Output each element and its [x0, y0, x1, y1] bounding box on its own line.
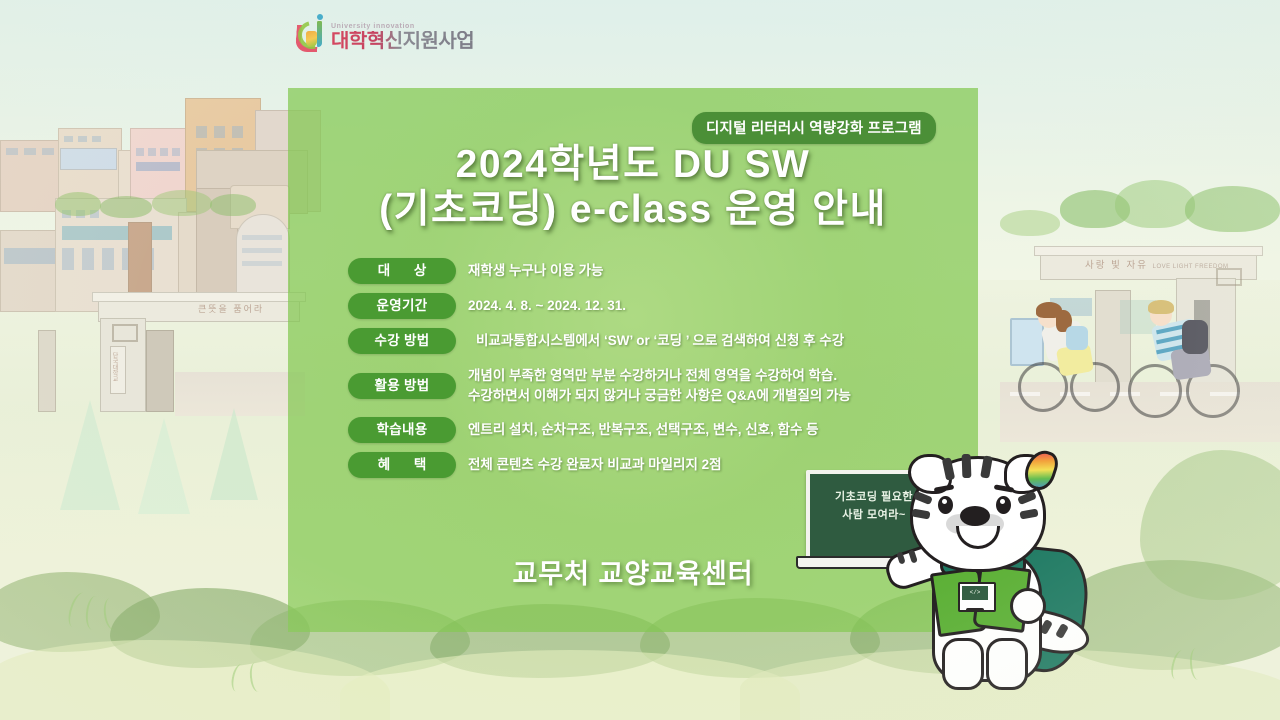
info-row-value: 엔트리 설치, 순차구조, 반복구조, 선택구조, 변수, 신호, 함수 등 [468, 417, 948, 440]
code-glyph: </> [964, 590, 986, 595]
info-row-value-line: 2024. 4. 8. ~ 2024. 12. 31. [468, 296, 948, 316]
info-row-value-line: 엔트리 설치, 순차구조, 반복구조, 선택구조, 변수, 신호, 함수 등 [468, 420, 948, 440]
info-row-label: 혜 택 [348, 452, 456, 478]
info-row-value: 2024. 4. 8. ~ 2024. 12. 31. [468, 293, 948, 316]
info-row-value-line: 비교과통합시스템에서 ‘SW’ or ‘코딩 ’ 으로 검색하여 신청 후 수강 [476, 331, 948, 351]
page-title: 2024학년도 DU SW (기초코딩) e-class 운영 안내 [288, 142, 978, 232]
info-rows: 대 상재학생 누구나 이용 가능운영기간2024. 4. 8. ~ 2024. … [348, 258, 948, 487]
info-row: 학습내용엔트리 설치, 순차구조, 반복구조, 선택구조, 변수, 신호, 함수… [348, 417, 948, 443]
tiger-leg-right [986, 638, 1028, 690]
info-row: 대 상재학생 누구나 이용 가능 [348, 258, 948, 284]
info-row: 활용 방법개념이 부족한 영역만 부분 수강하거나 전체 영역을 수강하여 학습… [348, 363, 948, 406]
gate-left-pillar-text: 단국대학교 [104, 352, 118, 382]
info-row-label: 활용 방법 [348, 373, 456, 399]
logo-korean-text: 대학혁신지원사업 [331, 31, 474, 51]
info-row-label: 운영기간 [348, 293, 456, 319]
info-row-value: 개념이 부족한 영역만 부분 수강하거나 전체 영역을 수강하여 학습.수강하면… [468, 363, 948, 406]
tiger-nose [960, 506, 990, 526]
logo-english-text: University innovation [331, 23, 474, 30]
info-row-label: 수강 방법 [348, 328, 456, 354]
info-row-value: 비교과통합시스템에서 ‘SW’ or ‘코딩 ’ 으로 검색하여 신청 후 수강 [468, 328, 948, 351]
program-badge: 디지털 리터러시 역량강화 프로그램 [692, 112, 936, 144]
tiger-leg-left [942, 638, 984, 690]
info-row-value-line: 개념이 부족한 영역만 부분 수강하거나 전체 영역을 수강하여 학습. [468, 366, 948, 386]
info-row: 운영기간2024. 4. 8. ~ 2024. 12. 31. [348, 293, 948, 319]
university-innovation-logo: University innovation 대학혁신지원사업 [296, 17, 474, 51]
info-row-value-line: 수강하면서 이해가 되지 않거나 궁금한 사항은 Q&A에 개별질의 가능 [468, 386, 948, 406]
cyclist-1 [1018, 300, 1128, 410]
gate-right-sign-ko: 사랑 빛 자유 LOVE LIGHT FREEDOM [1085, 257, 1229, 271]
title-line-1: 2024학년도 DU SW [456, 143, 811, 186]
info-row-value: 재학생 누구나 이용 가능 [468, 258, 948, 281]
cyclist-2 [1128, 300, 1248, 415]
info-row-label: 학습내용 [348, 417, 456, 443]
info-row: 수강 방법비교과통합시스템에서 ‘SW’ or ‘코딩 ’ 으로 검색하여 신청… [348, 328, 948, 354]
poster-canvas: 큰뜻을 품어라 단국대학교 사랑 빛 자유 LOVE LIGHT FREEDOM [0, 0, 1280, 720]
tiger-paw [1010, 588, 1046, 624]
title-line-2: (기초코딩) e-class 운영 안내 [288, 187, 978, 232]
info-row-value-line: 재학생 누구나 이용 가능 [468, 261, 948, 281]
uj-monogram-logo-icon [296, 17, 326, 51]
tiger-mascot: </> [892, 440, 1104, 688]
info-row-label: 대 상 [348, 258, 456, 284]
